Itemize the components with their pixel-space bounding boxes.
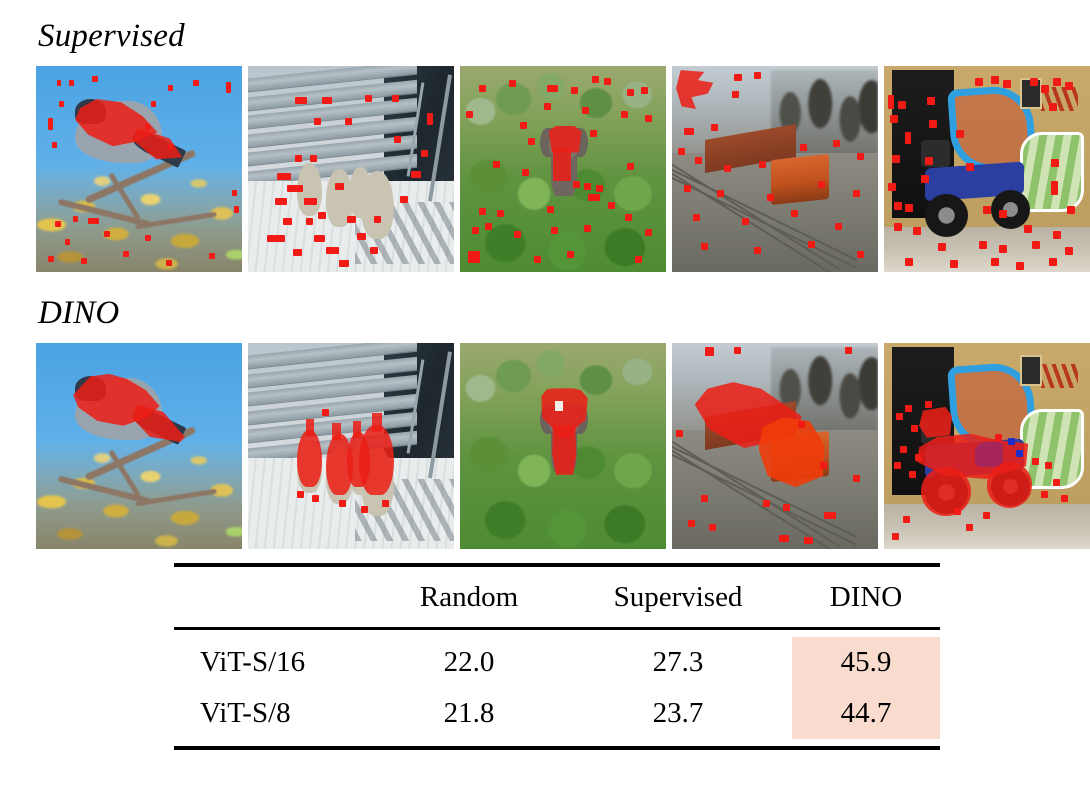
cell-vit-s16-random: 22.0 xyxy=(374,637,564,688)
image-strip-supervised xyxy=(36,66,1086,272)
scene-bird xyxy=(36,66,242,272)
image-cell-dino-geese[interactable] xyxy=(248,343,454,549)
results-table: Random Supervised DINO ViT-S/16 22.0 27.… xyxy=(174,563,940,750)
header-supervised: Supervised xyxy=(564,567,792,629)
cell-vit-s8-supervised: 23.7 xyxy=(564,688,792,739)
wall-window xyxy=(1020,355,1043,386)
image-cell-supervised-train[interactable] xyxy=(672,66,878,272)
image-cell-supervised-geese[interactable] xyxy=(248,66,454,272)
row-label-vit-s8: ViT-S/8 xyxy=(174,688,374,739)
graffiti-tag-small xyxy=(1041,87,1078,112)
scene-motorcycle xyxy=(884,343,1090,549)
elephant-trunk xyxy=(561,427,568,472)
scene-stairs xyxy=(248,343,454,549)
locomotive xyxy=(771,154,829,205)
scene-stairs xyxy=(248,66,454,272)
goose xyxy=(297,440,322,494)
image-strip-dino xyxy=(36,343,1086,549)
locomotive xyxy=(771,431,829,482)
table-row: ViT-S/16 22.0 27.3 45.9 xyxy=(174,637,940,688)
scene-train xyxy=(672,343,878,549)
graffiti-tag-green xyxy=(1020,409,1084,489)
wall-window xyxy=(1020,78,1043,109)
image-cell-dino-bird[interactable] xyxy=(36,343,242,549)
image-cell-dino-motorcycle[interactable] xyxy=(884,343,1090,549)
cell-vit-s8-dino: 44.7 xyxy=(792,688,940,739)
scene-elephant xyxy=(460,66,666,272)
scene-bird xyxy=(36,343,242,549)
graffiti-tag-small xyxy=(1041,364,1078,389)
motorcycle-wheel xyxy=(991,190,1030,229)
table-header-row: Random Supervised DINO xyxy=(174,567,940,629)
goose xyxy=(361,448,394,516)
elephant-trunk xyxy=(561,150,568,195)
table-rule-bottom xyxy=(174,748,940,750)
row-label-supervised: Supervised xyxy=(38,20,185,53)
cell-vit-s16-dino: 45.9 xyxy=(792,637,940,688)
ground xyxy=(884,504,1090,549)
scene-motorcycle xyxy=(884,66,1090,272)
table-spacer xyxy=(174,630,940,637)
bird-head xyxy=(75,376,106,401)
image-cell-dino-elephant[interactable] xyxy=(460,343,666,549)
header-random: Random xyxy=(374,567,564,629)
cell-vit-s8-random: 21.8 xyxy=(374,688,564,739)
bird-head xyxy=(75,99,106,124)
ground xyxy=(884,227,1090,272)
table-spacer xyxy=(174,739,940,748)
header-dino: DINO xyxy=(792,567,940,629)
goose xyxy=(361,171,394,239)
graffiti-tag-green xyxy=(1020,132,1084,212)
cell-vit-s16-supervised: 27.3 xyxy=(564,637,792,688)
row-label-vit-s16: ViT-S/16 xyxy=(174,637,374,688)
image-cell-supervised-motorcycle[interactable] xyxy=(884,66,1090,272)
motorcycle-topbox xyxy=(921,140,950,167)
table-row: ViT-S/8 21.8 23.7 44.7 xyxy=(174,688,940,739)
image-cell-dino-train[interactable] xyxy=(672,343,878,549)
scene-elephant xyxy=(460,343,666,549)
motorcycle-topbox xyxy=(921,417,950,444)
image-cell-supervised-elephant[interactable] xyxy=(460,66,666,272)
goose xyxy=(297,163,322,217)
motorcycle-wheel xyxy=(991,467,1030,506)
image-cell-supervised-bird[interactable] xyxy=(36,66,242,272)
row-label-dino: DINO xyxy=(38,297,119,330)
header-label xyxy=(174,567,374,629)
scene-train xyxy=(672,66,878,272)
